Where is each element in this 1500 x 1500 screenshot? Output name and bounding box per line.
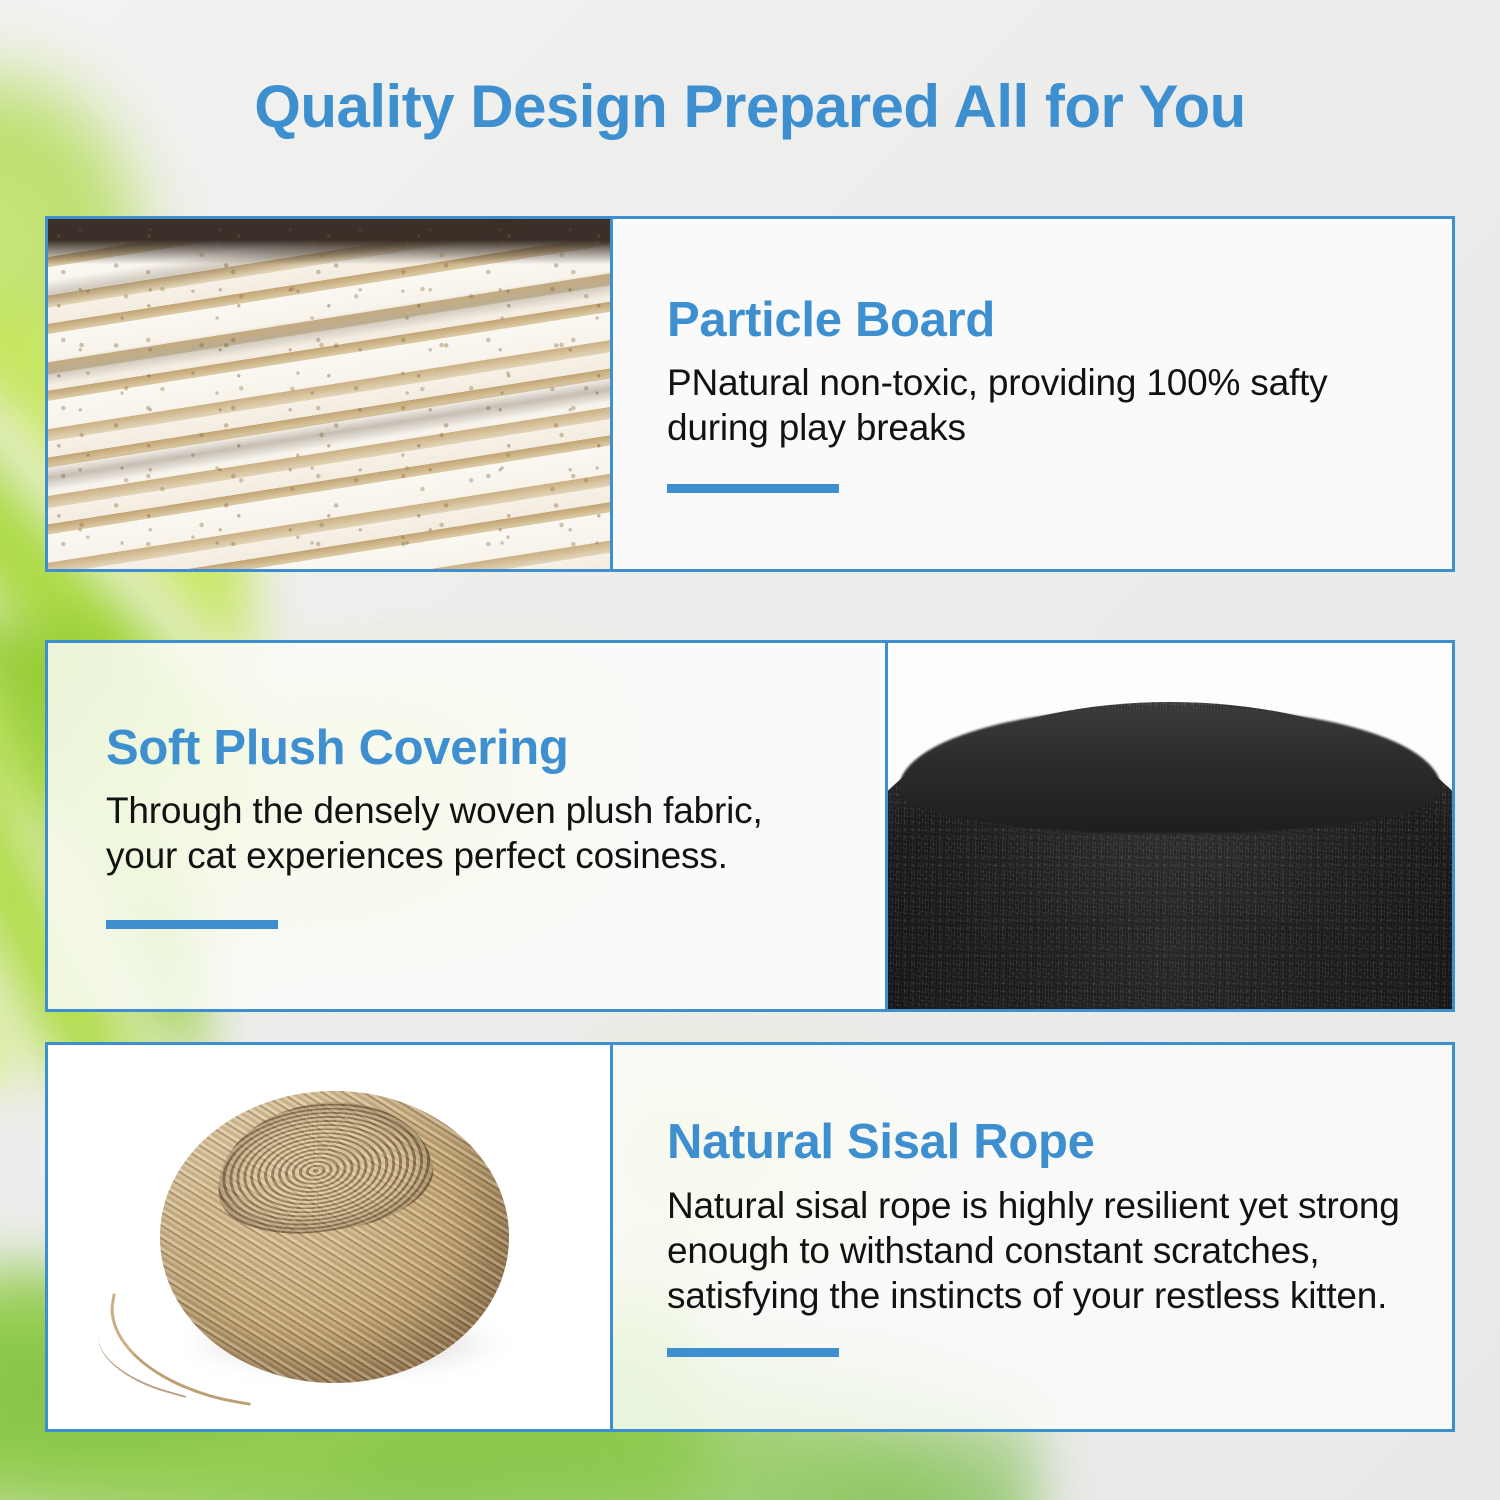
card-heading: Particle Board	[667, 295, 1396, 346]
card-text-panel: Natural Sisal Rope Natural sisal rope is…	[610, 1045, 1452, 1429]
infographic-page: Quality Design Prepared All for You Part…	[0, 0, 1500, 1500]
accent-underline-bar	[667, 484, 839, 493]
card-heading: Natural Sisal Rope	[667, 1117, 1418, 1168]
card-text-panel: Soft Plush Covering Through the densely …	[48, 643, 888, 1009]
sisal-rope-ball-photo	[48, 1045, 610, 1429]
plush-fabric-image	[888, 643, 1452, 1009]
particle-board-image	[48, 219, 610, 569]
card-body-text: PNatural non-toxic, providing 100% safty…	[667, 360, 1396, 450]
particle-board-photo	[48, 219, 610, 569]
page-title: Quality Design Prepared All for You	[0, 72, 1500, 141]
feature-card-soft-plush-covering: Soft Plush Covering Through the densely …	[45, 640, 1455, 1012]
accent-underline-bar	[667, 1348, 839, 1357]
card-body-text: Through the densely woven plush fabric, …	[106, 788, 806, 878]
card-heading: Soft Plush Covering	[106, 723, 845, 774]
card-body-text: Natural sisal rope is highly resilient y…	[667, 1183, 1418, 1318]
feature-card-particle-board: Particle Board PNatural non-toxic, provi…	[45, 216, 1455, 572]
sisal-rope-image	[48, 1045, 610, 1429]
card-text-panel: Particle Board PNatural non-toxic, provi…	[610, 219, 1452, 569]
accent-underline-bar	[106, 920, 278, 929]
feature-card-natural-sisal-rope: Natural Sisal Rope Natural sisal rope is…	[45, 1042, 1455, 1432]
black-plush-fabric-photo	[888, 643, 1452, 1009]
